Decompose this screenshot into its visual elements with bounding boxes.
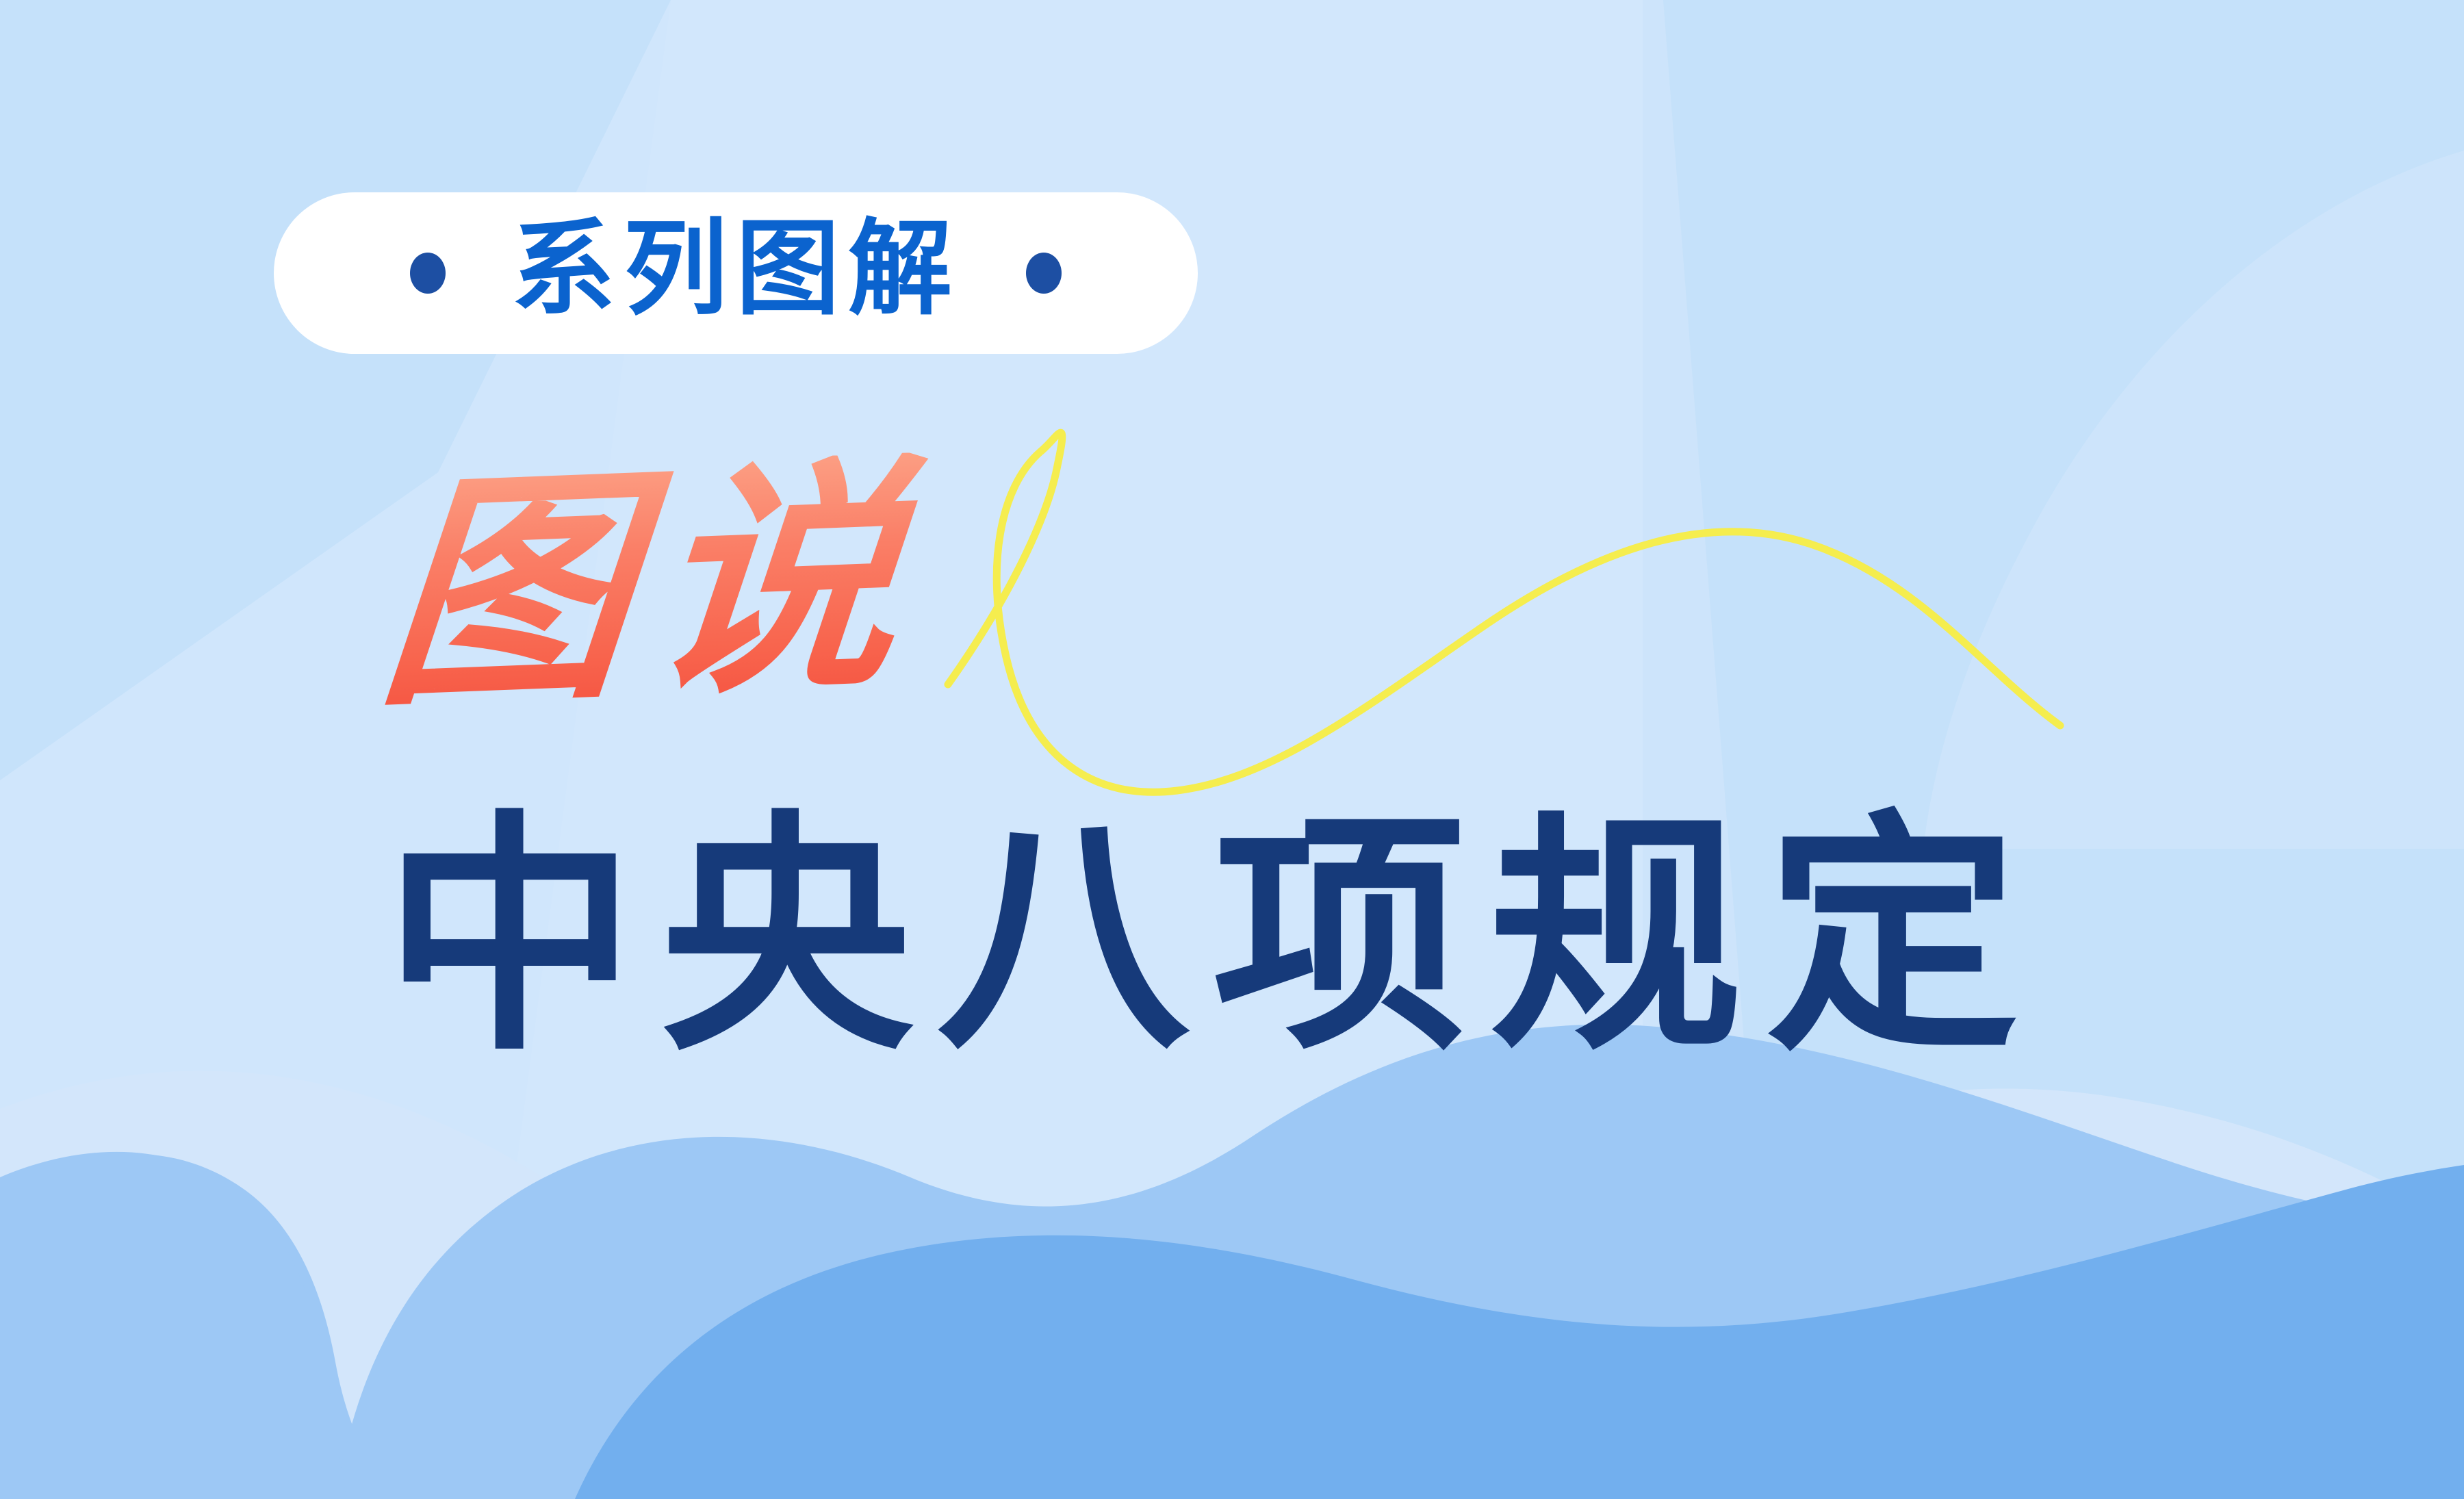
- script-title-text: 图说: [373, 448, 1040, 719]
- page-title-text: 中央八项规定: [383, 811, 2042, 1064]
- series-badge: 系列图解: [274, 192, 1198, 354]
- bullet-dot-left: [410, 253, 446, 294]
- bullet-dot-right: [1026, 253, 1062, 294]
- series-badge-label: 系列图解: [511, 217, 960, 321]
- page-title: 中央八项规定: [383, 794, 2177, 1081]
- script-title: 图说: [383, 472, 1027, 767]
- poster-canvas: 系列图解 图说 中央八项规定: [0, 0, 2464, 1499]
